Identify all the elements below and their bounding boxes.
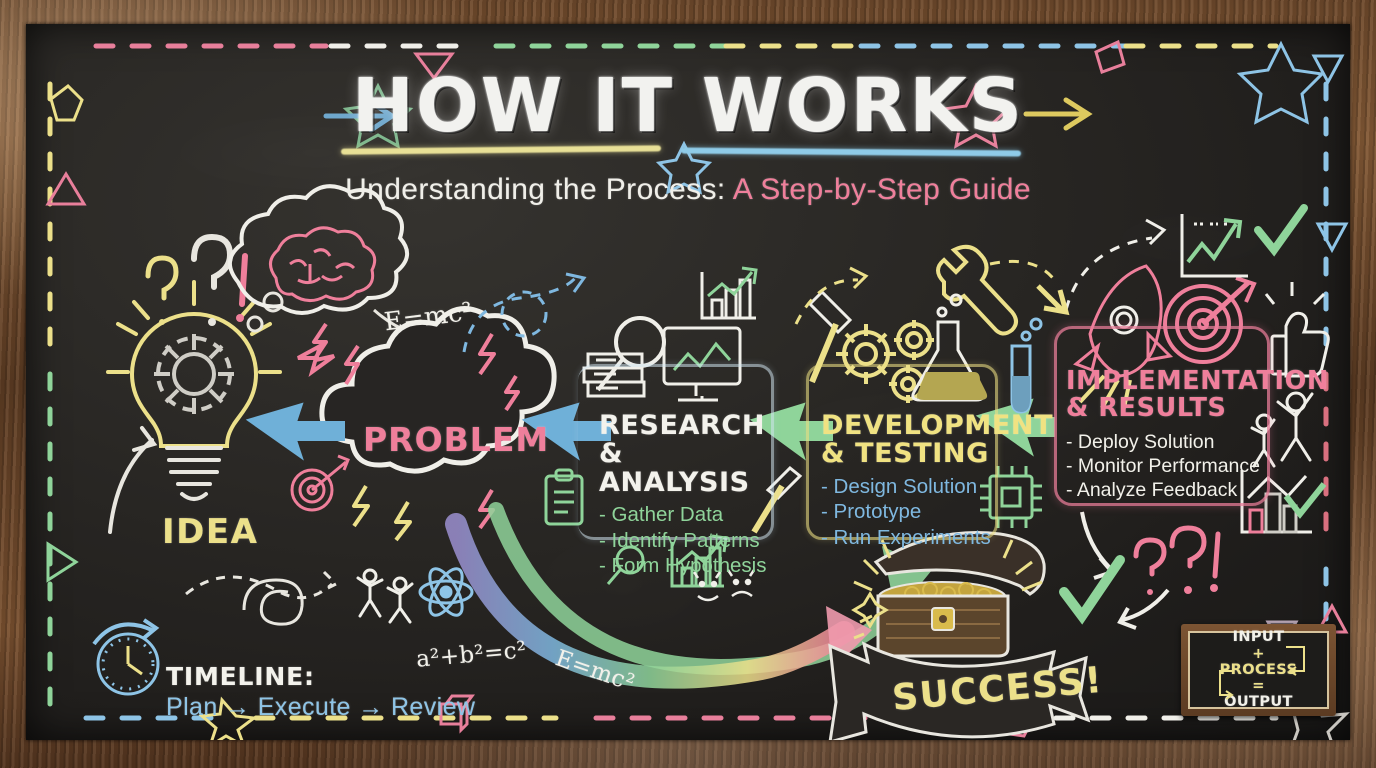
triangle-icon	[1318, 224, 1346, 250]
curved-arrow-icon	[110, 428, 154, 532]
timeline-steps: Plan → Execute → Review	[166, 693, 475, 722]
stage-research-heading-line1: RESEARCH &	[599, 412, 779, 469]
stage-research-bullet-2: - Identify Patterns	[599, 528, 779, 554]
stage-implementation-bullets: - Deploy Solution - Monitor Performance …	[1066, 430, 1276, 503]
page-subtitle: Understanding the Process: A Step-by-Ste…	[26, 173, 1350, 207]
page-title: HOW IT WORKS	[26, 70, 1350, 143]
stage-development-bullets: - Design Solution - Prototype - Run Expe…	[821, 474, 1001, 551]
stick-figure-icon	[358, 570, 412, 622]
triangle-icon	[1010, 710, 1030, 736]
mini-board-input: INPUT	[1233, 629, 1285, 645]
dashed-loop-icon	[186, 572, 336, 598]
success-label: SUCCESS!	[891, 660, 1105, 719]
stage-development-bullet-3: - Run Experiments	[821, 525, 1001, 551]
stage-development-bullet-2: - Prototype	[821, 499, 1001, 525]
dashed-arrow-icon	[464, 274, 584, 352]
stage-development-heading: DEVELOPMENT & TESTING	[821, 412, 1001, 469]
thumbs-up-icon	[1266, 282, 1328, 376]
subtitle-pink-part: A Step-by-Step Guide	[733, 173, 1031, 206]
stage-implementation-heading-line2: & RESULTS	[1066, 395, 1276, 422]
yellow-arrow-icon	[1038, 286, 1066, 312]
mini-board-equals: =	[1252, 678, 1265, 694]
timeline-title: TIMELINE:	[166, 662, 475, 691]
stage-implementation-heading: IMPLEMENTATION & RESULTS	[1066, 368, 1276, 422]
stage-research-heading-line2: ANALYSIS	[599, 469, 779, 497]
chalkboard-frame: HOW IT WORKS Understanding the Process: …	[0, 0, 1376, 768]
clock-icon	[94, 620, 158, 694]
mini-board-process: PROCESS	[1220, 662, 1298, 678]
mini-chalkboard-inner: INPUT + PROCESS = OUTPUT	[1188, 631, 1329, 709]
mini-chalkboard: INPUT + PROCESS = OUTPUT	[1181, 624, 1336, 716]
target-icon	[292, 456, 348, 510]
blue-arrow-icon	[248, 404, 344, 458]
timeline-block: TIMELINE: Plan → Execute → Review	[166, 662, 475, 722]
triangle-icon	[48, 544, 76, 580]
atom-icon	[420, 564, 472, 620]
stage-research-bullet-3: - Form Hypothesis	[599, 553, 779, 579]
brain-icon	[270, 228, 374, 301]
stage-implementation-heading-line1: IMPLEMENTATION	[1066, 368, 1276, 395]
idea-label: IDEA	[162, 512, 258, 552]
curved-arrow-icon	[1120, 590, 1168, 628]
stage-research-heading: RESEARCH & ANALYSIS	[599, 412, 779, 497]
stage-research[interactable]: RESEARCH & ANALYSIS - Gather Data - Iden…	[599, 412, 779, 579]
stage-development-heading-line1: DEVELOPMENT	[821, 412, 1001, 440]
stage-implementation[interactable]: IMPLEMENTATION & RESULTS - Deploy Soluti…	[1066, 368, 1276, 503]
formula-emc-bottom: E=mc²	[552, 645, 638, 696]
stage-implementation-bullet-1: - Deploy Solution	[1066, 430, 1276, 454]
title-underlines	[26, 145, 1350, 159]
check-mark-icon	[1064, 560, 1120, 616]
star-icon	[1096, 42, 1124, 72]
question-mark-icon	[148, 237, 230, 326]
subtitle-white-part: Understanding the Process:	[345, 173, 733, 206]
clipboard-icon	[546, 470, 582, 524]
bubble-icon	[248, 293, 282, 331]
exclamation-mark-icon	[236, 256, 245, 322]
stage-development-bullet-1: - Design Solution	[821, 474, 1001, 500]
formula-emc-top: E=mc²	[383, 297, 475, 337]
line-chart-icon	[1182, 214, 1248, 276]
bar-chart-icon	[702, 268, 756, 318]
problem-label: PROBLEM	[363, 420, 549, 459]
dashed-arrow-icon	[1066, 220, 1164, 310]
spiral-icon	[244, 580, 302, 624]
check-mark-icon	[1258, 208, 1304, 250]
stage-implementation-bullet-3: - Analyze Feedback	[1066, 478, 1276, 502]
arrow-shape-icon	[298, 346, 334, 372]
mini-board-output: OUTPUT	[1224, 694, 1293, 710]
test-tube-icon	[1012, 319, 1041, 412]
stage-implementation-bullet-2: - Monitor Performance	[1066, 454, 1276, 478]
lightbulb-icon	[108, 282, 280, 446]
wrench-icon	[938, 247, 1016, 334]
stage-research-bullets: - Gather Data - Identify Patterns - Form…	[599, 502, 779, 579]
dashed-arrow-icon	[796, 261, 1056, 324]
title-underline-left	[341, 145, 661, 154]
stage-development-heading-line2: & TESTING	[821, 440, 1001, 468]
stage-development[interactable]: DEVELOPMENT & TESTING - Design Solution …	[821, 412, 1001, 551]
title-block: HOW IT WORKS Understanding the Process: …	[26, 70, 1350, 207]
stage-research-bullet-1: - Gather Data	[599, 502, 779, 528]
chalkboard-surface: HOW IT WORKS Understanding the Process: …	[26, 24, 1350, 740]
gear-icon	[154, 334, 234, 414]
question-mark-icon	[1136, 528, 1218, 595]
mini-board-plus: +	[1252, 646, 1265, 662]
lightbulb-base-icon	[167, 448, 221, 499]
title-underline-right	[681, 147, 1021, 156]
curved-arrow-icon	[1082, 512, 1112, 578]
